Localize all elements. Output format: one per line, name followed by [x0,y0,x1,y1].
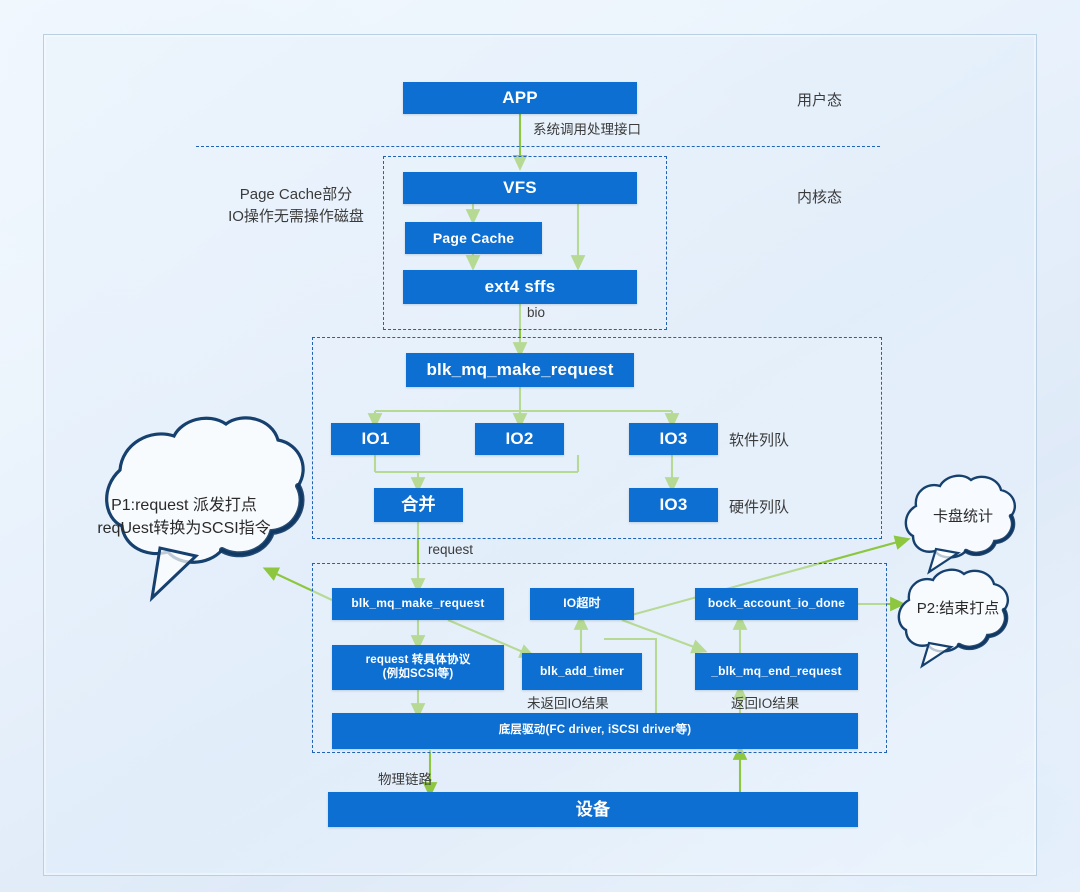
node-ext4-sffs[interactable]: ext4 sffs [403,270,637,304]
node-page-cache[interactable]: Page Cache [405,222,542,254]
node-merge[interactable]: 合并 [374,488,463,522]
label-no-io-result: 未返回IO结果 [527,692,609,712]
node-device[interactable]: 设备 [328,792,858,827]
node-io1[interactable]: IO1 [331,423,420,455]
node-blk-mq-make-request-low[interactable]: blk_mq_make_request [332,588,504,620]
label-hard-queue: 硬件列队 [729,496,789,517]
node-low-level-driver[interactable]: 底层驱动(FC driver, iSCSI driver等) [332,713,858,749]
node-bock-account-io-done[interactable]: bock_account_io_done [695,588,858,620]
label-physical-link: 物理链路 [378,768,432,788]
node-request-to-protocol[interactable]: request 转具体协议 (例如SCSI等) [332,645,504,690]
node-vfs[interactable]: VFS [403,172,637,204]
node-blk-mq-make-request-top[interactable]: blk_mq_make_request [406,353,634,387]
label-syscall: 系统调用处理接口 [533,118,641,138]
node-io3-soft[interactable]: IO3 [629,423,718,455]
label-user-mode: 用户态 [797,89,842,110]
cloud-p1-text: P1:request 派发打点 reqUest转换为SCSI指令 [66,494,302,540]
label-kernel-mode: 内核态 [797,186,842,207]
diagram-canvas: APP VFS Page Cache ext4 sffs blk_mq_make… [0,0,1080,892]
user-kernel-divider [196,146,880,147]
cloud-p2-text: P2:结束打点 [900,598,1016,620]
node-blk-add-timer[interactable]: blk_add_timer [522,653,642,690]
label-page-cache-note: Page Cache部分 IO操作无需操作磁盘 [216,184,376,228]
node-io3-hard[interactable]: IO3 [629,488,718,522]
node-io-timeout[interactable]: IO超时 [530,588,634,620]
node-app[interactable]: APP [403,82,637,114]
cloud-chuck-text: 卡盘统计 [908,506,1018,528]
node-io2[interactable]: IO2 [475,423,564,455]
label-bio: bio [527,305,545,320]
label-soft-queue: 软件列队 [729,429,789,450]
label-io-result: 返回IO结果 [731,692,799,712]
node-blk-mq-end-request[interactable]: _blk_mq_end_request [695,653,858,690]
label-request: request [428,542,473,557]
